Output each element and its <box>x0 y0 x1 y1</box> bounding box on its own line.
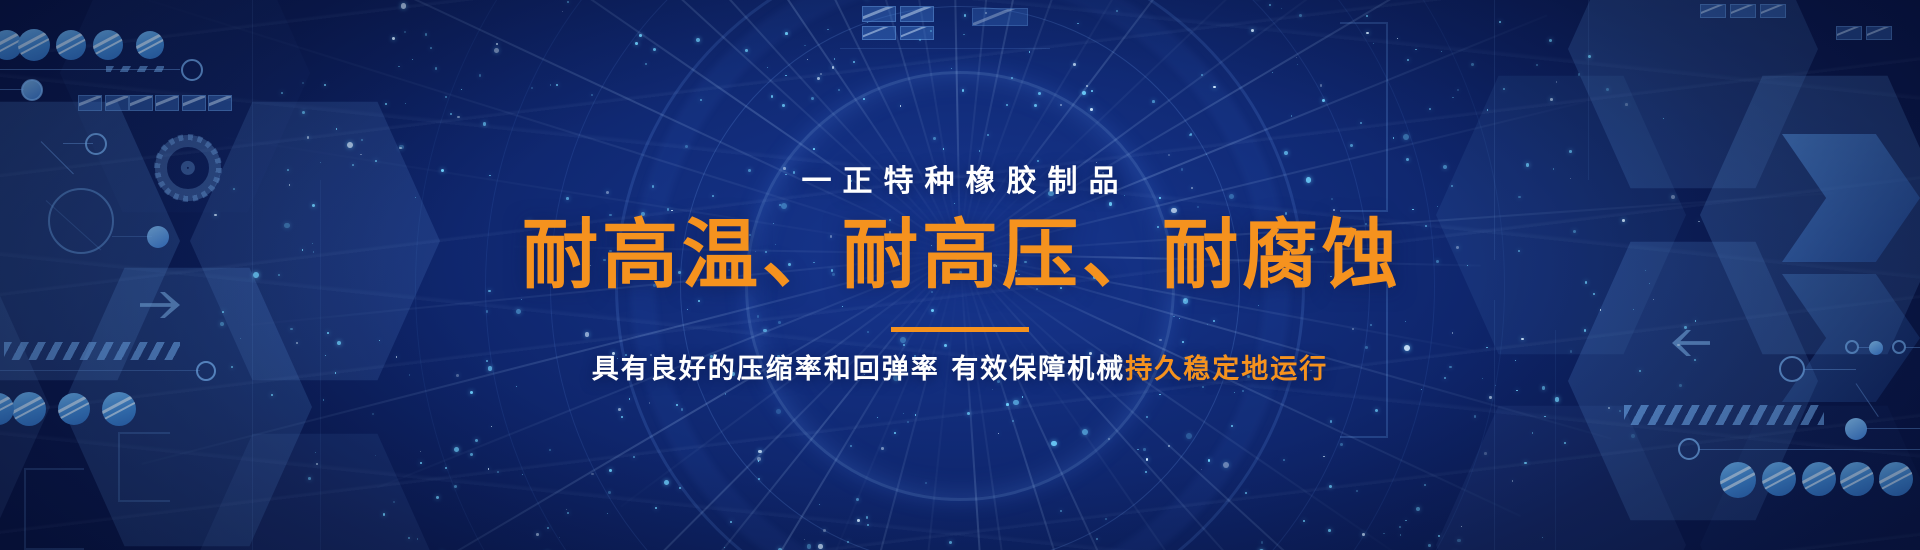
banner-tagline: 具有良好的压缩率和回弹率 有效保障机械持久稳定地运行 <box>592 356 1328 383</box>
banner-copy: 一正特种橡胶制品 耐高温、耐高压、耐腐蚀 具有良好的压缩率和回弹率 有效保障机械… <box>0 0 1920 550</box>
accent-divider <box>891 327 1029 332</box>
tagline-white-part: 具有良好的压缩率和回弹率 有效保障机械 <box>592 354 1125 385</box>
banner-eyebrow: 一正特种橡胶制品 <box>791 167 1130 197</box>
hero-banner: 一正特种橡胶制品 耐高温、耐高压、耐腐蚀 具有良好的压缩率和回弹率 有效保障机械… <box>0 0 1920 550</box>
tagline-orange-part: 持久稳定地运行 <box>1125 354 1328 385</box>
banner-headline: 耐高温、耐高压、耐腐蚀 <box>518 217 1402 293</box>
